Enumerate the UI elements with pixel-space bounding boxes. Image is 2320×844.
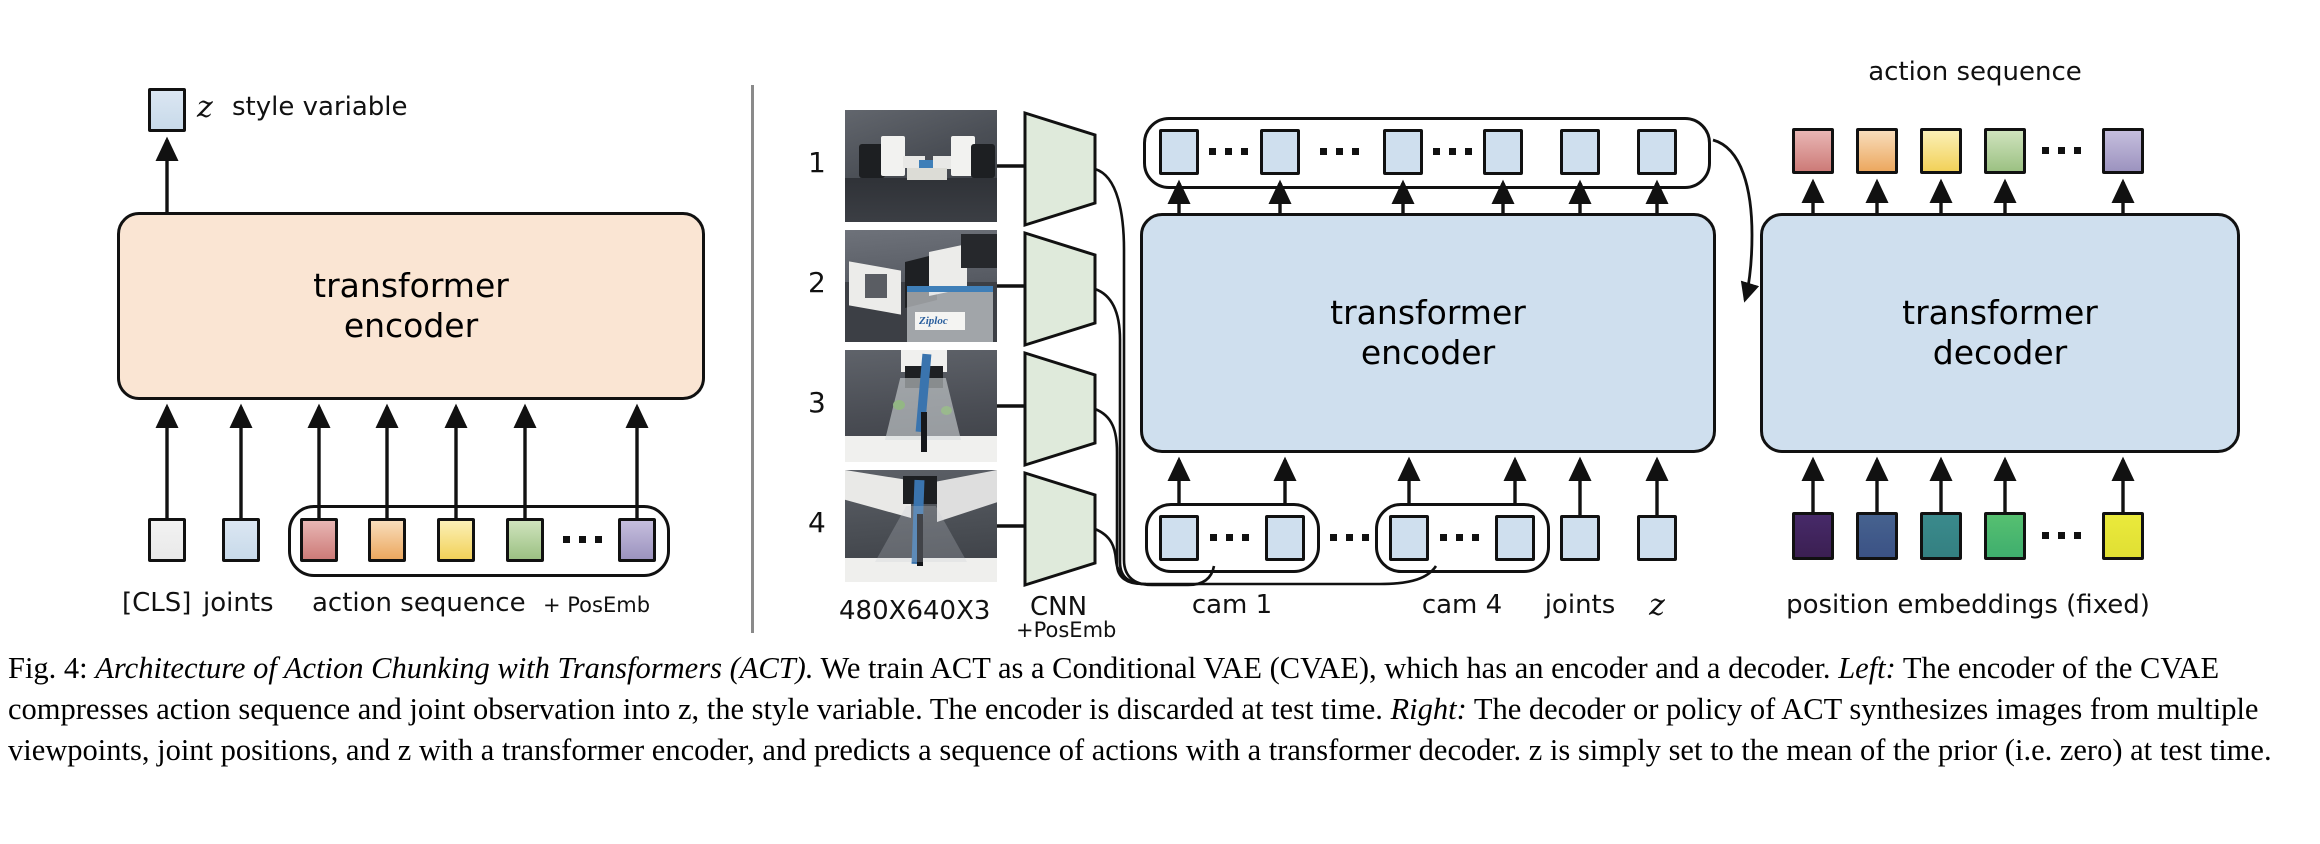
image-size-label: 480X640X3 bbox=[839, 596, 990, 626]
panel-divider bbox=[751, 85, 754, 633]
cls-label: [CLS] bbox=[122, 588, 191, 618]
posemb-label: + PosEmb bbox=[543, 593, 650, 617]
cam1-token-last bbox=[1265, 515, 1305, 561]
action-sequence-group bbox=[288, 505, 670, 577]
right-z-label: z bbox=[1649, 588, 1665, 623]
figure-act-architecture: z style variable transformer encoder [CL… bbox=[0, 0, 2320, 844]
cls-token bbox=[148, 518, 186, 562]
decoder-line2: decoder bbox=[1902, 333, 2098, 373]
out-token-n bbox=[2102, 128, 2144, 174]
decoder-line1: transformer bbox=[1902, 293, 2098, 333]
posemb-token-1 bbox=[1792, 512, 1834, 560]
cam4-label: cam 4 bbox=[1422, 590, 1502, 620]
camera-image-2: Ziploc bbox=[845, 230, 997, 342]
cam-groups-ellipsis bbox=[1330, 534, 1369, 541]
output-action-sequence-label: action sequence bbox=[1868, 57, 2082, 87]
action-token-4 bbox=[506, 518, 544, 562]
left-transformer-encoder-block: transformer encoder bbox=[117, 212, 705, 400]
camera-number-2: 2 bbox=[808, 266, 826, 299]
posemb-token-4 bbox=[1984, 512, 2026, 560]
posemb-token-3 bbox=[1920, 512, 1962, 560]
output-ellipsis bbox=[2042, 147, 2081, 154]
joints-token bbox=[222, 518, 260, 562]
encoder-output-ellipsis-3 bbox=[1433, 148, 1472, 155]
camera-image-3 bbox=[845, 350, 997, 462]
caption-title: Architecture of Action Chunking with Tra… bbox=[95, 651, 813, 685]
camera-image-1 bbox=[845, 110, 997, 222]
caption-intro: We train ACT as a Conditional VAE (CVAE)… bbox=[813, 651, 1838, 685]
right-encoder-line2: encoder bbox=[1330, 333, 1526, 373]
cam4-token-first bbox=[1389, 515, 1429, 561]
right-z-token bbox=[1637, 515, 1677, 561]
encoder-output-ellipsis-2 bbox=[1320, 148, 1359, 155]
caption-left-keyword: Left: bbox=[1838, 651, 1896, 685]
figure-caption: Fig. 4: Architecture of Action Chunking … bbox=[8, 648, 2314, 771]
camera-number-3: 3 bbox=[808, 386, 826, 419]
encoder-output-token-5 bbox=[1560, 129, 1600, 175]
style-variable-text-label: style variable bbox=[232, 92, 408, 122]
action-token-2 bbox=[368, 518, 406, 562]
caption-fig-label: Fig. 4: bbox=[8, 651, 88, 685]
posemb-token-2 bbox=[1856, 512, 1898, 560]
action-token-1 bbox=[300, 518, 338, 562]
position-embeddings-label: position embeddings (fixed) bbox=[1786, 590, 2150, 620]
cam1-ellipsis bbox=[1210, 534, 1249, 541]
left-encoder-line2: encoder bbox=[313, 306, 509, 346]
caption-right-keyword: Right: bbox=[1391, 692, 1467, 726]
cam1-label: cam 1 bbox=[1192, 590, 1272, 620]
camera-number-4: 4 bbox=[808, 506, 826, 539]
posemb-token-n bbox=[2102, 512, 2144, 560]
right-joints-label: joints bbox=[1545, 590, 1616, 620]
cam4-token-last bbox=[1495, 515, 1535, 561]
cnn-posemb-label: +PosEmb bbox=[1016, 618, 1116, 642]
style-variable-z-label: z bbox=[197, 90, 213, 125]
camera-image-4 bbox=[845, 470, 997, 582]
left-encoder-line1: transformer bbox=[313, 266, 509, 306]
out-token-2 bbox=[1856, 128, 1898, 174]
cam4-ellipsis bbox=[1440, 534, 1479, 541]
out-token-4 bbox=[1984, 128, 2026, 174]
joints-label: joints bbox=[203, 588, 274, 618]
action-sequence-ellipsis bbox=[563, 536, 602, 543]
action-token-3 bbox=[437, 518, 475, 562]
right-encoder-line1: transformer bbox=[1330, 293, 1526, 333]
right-joints-token bbox=[1560, 515, 1600, 561]
encoder-output-ellipsis-1 bbox=[1209, 148, 1248, 155]
action-token-n bbox=[618, 518, 656, 562]
action-sequence-label: action sequence bbox=[312, 588, 526, 618]
camera-number-1: 1 bbox=[808, 146, 826, 179]
encoder-output-token-2 bbox=[1260, 129, 1300, 175]
cam1-token-first bbox=[1159, 515, 1199, 561]
posemb-ellipsis bbox=[2042, 532, 2081, 539]
right-transformer-encoder-block: transformer encoder bbox=[1140, 213, 1716, 453]
encoder-output-token-1 bbox=[1159, 129, 1199, 175]
out-token-1 bbox=[1792, 128, 1834, 174]
transformer-decoder-block: transformer decoder bbox=[1760, 213, 2240, 453]
encoder-output-token-4 bbox=[1483, 129, 1523, 175]
encoder-output-token-6 bbox=[1637, 129, 1677, 175]
encoder-output-token-3 bbox=[1383, 129, 1423, 175]
out-token-3 bbox=[1920, 128, 1962, 174]
style-variable-token bbox=[148, 88, 186, 132]
